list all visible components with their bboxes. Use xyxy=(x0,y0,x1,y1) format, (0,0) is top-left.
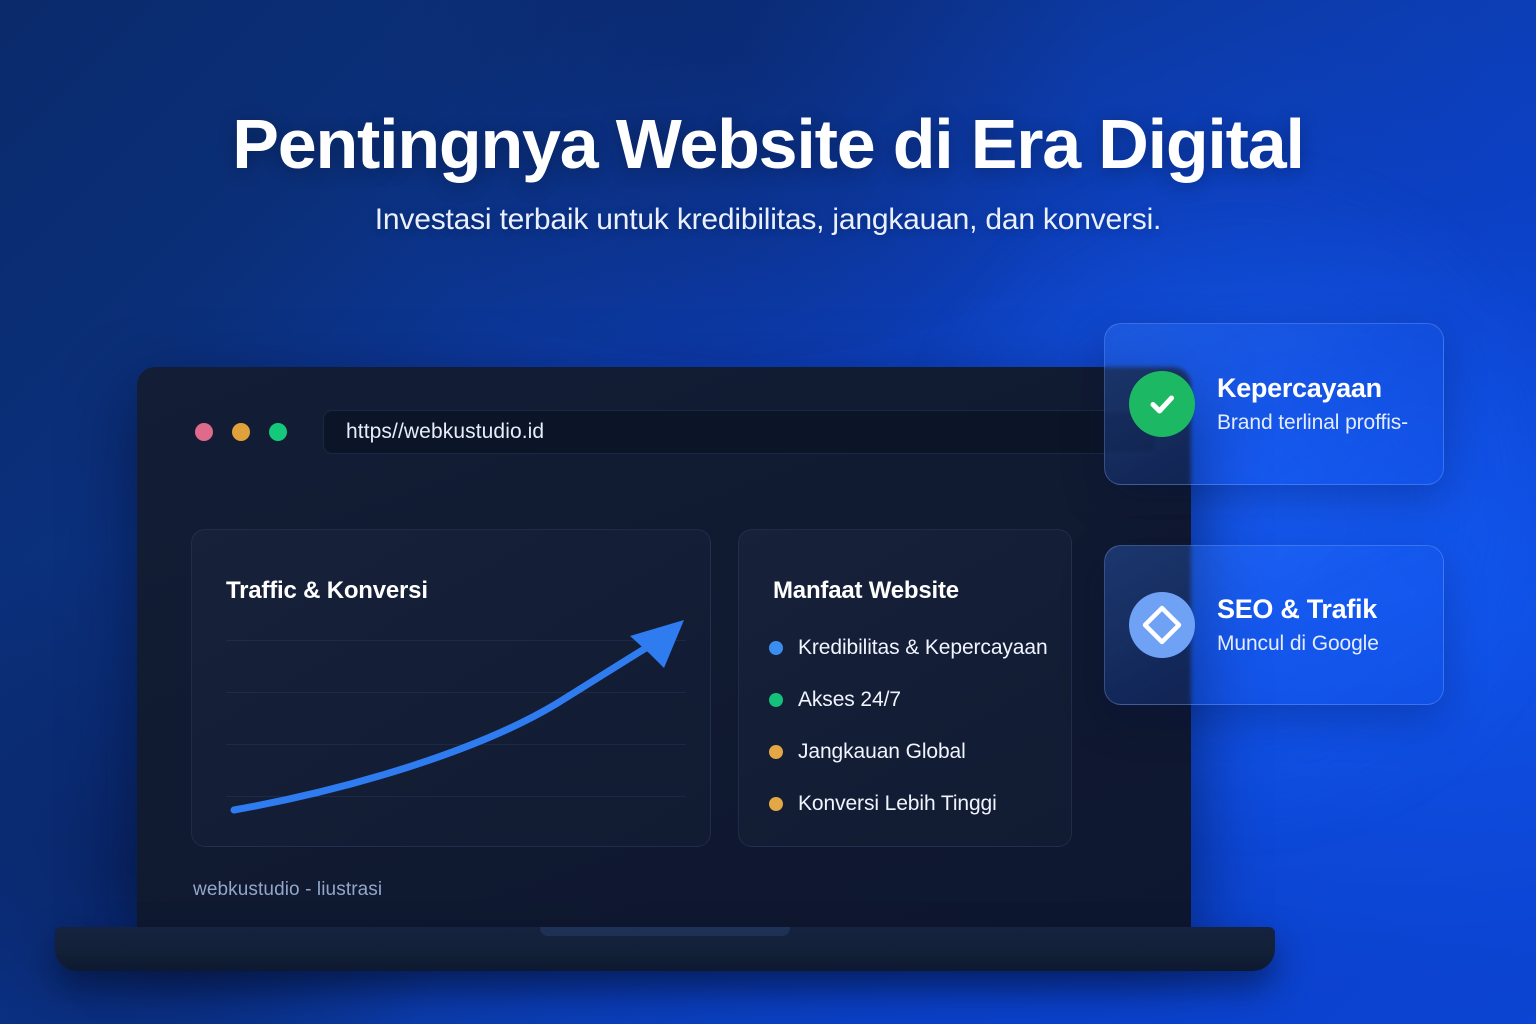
list-item-label: Kredibilitas & Kepercayaan xyxy=(798,636,1048,660)
bullet-icon xyxy=(769,693,783,707)
feature-card-text: Kepercayaan Brand terlinal proffis- xyxy=(1217,373,1408,434)
benefits-panel-title: Manfaat Website xyxy=(773,577,959,605)
close-icon[interactable] xyxy=(195,423,213,441)
maximize-icon[interactable] xyxy=(269,423,287,441)
chart-panel-title: Traffic & Konversi xyxy=(226,577,428,605)
feature-card-subtitle: Muncul di Google xyxy=(1217,632,1379,656)
benefits-list: Kredibilitas & Kepercayaan Akses 24/7 Ja… xyxy=(769,622,1059,830)
feature-card-title: Kepercayaan xyxy=(1217,373,1408,403)
feature-card-text: SEO & Trafik Muncul di Google xyxy=(1217,594,1379,655)
window-controls xyxy=(195,423,287,441)
list-item-label: Jangkauan Global xyxy=(798,740,966,764)
feature-cards: Kepercayaan Brand terlinal proffis- SEO … xyxy=(1104,323,1444,705)
chart-arrow-head-icon xyxy=(630,620,684,668)
traffic-chart-panel: Traffic & Konversi xyxy=(191,529,711,847)
benefits-panel: Manfaat Website Kredibilitas & Kepercaya… xyxy=(738,529,1072,847)
page-subtitle: Investasi terbaik untuk kredibilitas, ja… xyxy=(0,203,1536,237)
bullet-icon xyxy=(769,797,783,811)
list-item: Akses 24/7 xyxy=(769,674,1059,726)
feature-card-kepercayaan[interactable]: Kepercayaan Brand terlinal proffis- xyxy=(1104,323,1444,485)
bullet-icon xyxy=(769,641,783,655)
header: Pentingnya Website di Era Digital Invest… xyxy=(0,0,1536,237)
list-item-label: Konversi Lebih Tinggi xyxy=(798,792,997,816)
list-item: Kredibilitas & Kepercayaan xyxy=(769,622,1059,674)
poster-canvas: Pentingnya Website di Era Digital Invest… xyxy=(0,0,1536,1024)
laptop-base-notch xyxy=(540,927,790,936)
dashboard-panels: Traffic & Konversi Manfaat Web xyxy=(191,529,1137,847)
screen-footer-caption: webkustudio - liustrasi xyxy=(193,879,382,901)
diamond-icon xyxy=(1129,592,1195,658)
feature-card-title: SEO & Trafik xyxy=(1217,594,1379,624)
chart-plot-area xyxy=(226,626,686,824)
page-title: Pentingnya Website di Era Digital xyxy=(0,108,1536,181)
browser-toolbar: https//webkustudio.id xyxy=(137,367,1191,497)
chart-trend-line xyxy=(226,612,696,826)
url-input[interactable]: https//webkustudio.id xyxy=(346,420,544,444)
list-item: Jangkauan Global xyxy=(769,726,1059,778)
minimize-icon[interactable] xyxy=(232,423,250,441)
bullet-icon xyxy=(769,745,783,759)
list-item-label: Akses 24/7 xyxy=(798,688,901,712)
feature-card-seo[interactable]: SEO & Trafik Muncul di Google xyxy=(1104,545,1444,705)
laptop-base xyxy=(55,927,1275,971)
url-bar[interactable]: https//webkustudio.id xyxy=(323,410,1157,454)
list-item: Konversi Lebih Tinggi xyxy=(769,778,1059,830)
laptop-screen: https//webkustudio.id Traffic & Konversi xyxy=(137,367,1191,929)
feature-card-subtitle: Brand terlinal proffis- xyxy=(1217,411,1408,435)
check-circle-icon xyxy=(1129,371,1195,437)
